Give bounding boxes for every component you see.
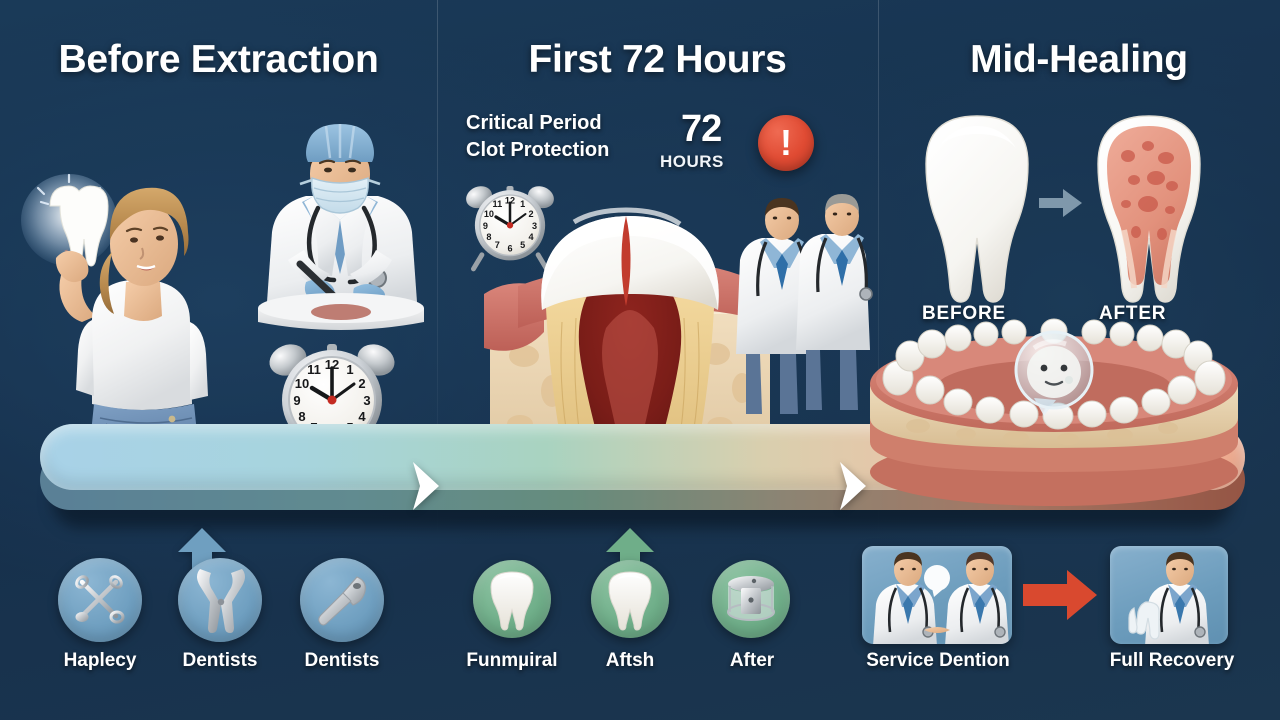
svg-text:11: 11 bbox=[307, 362, 321, 377]
clot-protection-label: Clot Protection bbox=[466, 137, 609, 164]
two-doctors-consulting-icon bbox=[862, 546, 1012, 644]
hours-number: 72 bbox=[681, 108, 721, 151]
doctor-waving-icon bbox=[1110, 546, 1228, 644]
panel-title-mid-healing: Mid-Healing bbox=[878, 38, 1280, 82]
timeline-chevron-1 bbox=[409, 460, 443, 512]
infographic-canvas: Before Extraction bbox=[0, 0, 1280, 720]
svg-text:9: 9 bbox=[293, 393, 300, 408]
molar-tooth-icon bbox=[606, 570, 654, 628]
svg-text:10: 10 bbox=[295, 376, 309, 391]
tooth-transition-arrow-icon bbox=[1039, 188, 1083, 218]
footer-card-two-doctors-consulting[interactable] bbox=[862, 546, 1012, 644]
healthy-tooth-icon bbox=[918, 108, 1036, 304]
specimen-container-icon bbox=[724, 574, 778, 624]
dental-elevator-icon bbox=[313, 571, 371, 629]
svg-text:8: 8 bbox=[298, 409, 305, 424]
svg-text:3: 3 bbox=[363, 393, 370, 408]
footer-label-5: After bbox=[672, 650, 832, 672]
patient-holding-tooth-figure bbox=[14, 132, 246, 462]
footer-icon-specimen-container[interactable] bbox=[712, 560, 790, 638]
dentist-performing-extraction-figure bbox=[244, 112, 440, 362]
svg-text:1: 1 bbox=[346, 362, 353, 377]
footer-icon-extraction-forceps[interactable] bbox=[178, 558, 262, 642]
footer-label-2: Dentists bbox=[262, 650, 422, 672]
molar-tooth-icon bbox=[488, 570, 536, 628]
footer-icon-molar-tooth-2[interactable] bbox=[591, 560, 669, 638]
two-doctors-figure bbox=[726, 188, 874, 418]
footer-icon-dental-elevator[interactable] bbox=[300, 558, 384, 642]
footer-label-6: Service Dention bbox=[845, 650, 1031, 672]
footer-card-doctor-waving[interactable] bbox=[1110, 546, 1228, 644]
dental-arch-model-figure bbox=[858, 322, 1264, 512]
red-arrow-icon bbox=[1023, 568, 1097, 622]
panel-title-first-72-hours: First 72 Hours bbox=[437, 38, 878, 82]
warning-exclamation-icon: ! bbox=[758, 115, 814, 171]
svg-text:2: 2 bbox=[358, 376, 365, 391]
footer-icon-molar-tooth-1[interactable] bbox=[473, 560, 551, 638]
hours-unit-label: HOURS bbox=[660, 152, 724, 172]
critical-period-label: Critical Period bbox=[466, 110, 602, 137]
panel-title-before-extraction: Before Extraction bbox=[0, 38, 437, 82]
crossed-dental-instruments-icon bbox=[70, 570, 130, 630]
svg-text:4: 4 bbox=[358, 409, 366, 424]
extraction-forceps-icon bbox=[191, 569, 249, 631]
inflamed-tooth-icon bbox=[1090, 108, 1208, 304]
footer-icon-crossed-dental-instruments[interactable] bbox=[58, 558, 142, 642]
footer-label-7: Full Recovery bbox=[1092, 650, 1252, 672]
